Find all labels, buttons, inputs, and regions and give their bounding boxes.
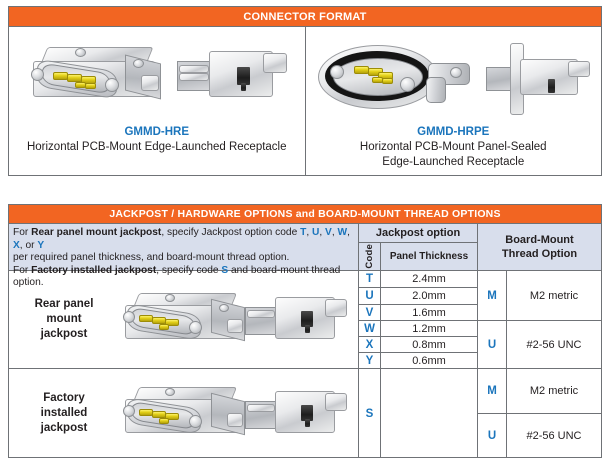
connector-hrpe-description-line1: Horizontal PCB-Mount Panel-Sealed bbox=[306, 140, 602, 155]
thread-code-cell: M bbox=[478, 271, 506, 321]
datasheet-page: CONNECTOR FORMAT bbox=[0, 0, 610, 464]
factory-installed-label: Factory installed jackpost bbox=[9, 391, 119, 436]
jackpost-table-body: Rear panel mount jackpost bbox=[9, 271, 601, 458]
thread-code-cell: U bbox=[478, 321, 506, 369]
rear-panel-label-line3: jackpost bbox=[9, 327, 119, 342]
code-cell: Y bbox=[359, 353, 380, 369]
jackpost-note: For Rear panel mount jackpost, specify J… bbox=[9, 224, 359, 271]
factory-installed-label-line3: jackpost bbox=[9, 421, 119, 436]
factory-installed-side-view bbox=[245, 389, 357, 441]
panel-thickness-column: 2.4mm 2.0mm 1.6mm 1.2mm 0.8mm 0.6mm bbox=[381, 271, 478, 458]
jackpost-label-column: Rear panel mount jackpost bbox=[9, 271, 359, 458]
connector-hre-model: GMMD-HRE bbox=[9, 125, 305, 140]
code-cell: V bbox=[359, 305, 380, 321]
connector-hre-artwork bbox=[9, 27, 305, 125]
code-column-header: Code bbox=[359, 243, 381, 270]
note-line1-pre: For bbox=[13, 227, 31, 238]
board-mount-thread-option-header: Board-Mount Thread Option bbox=[478, 224, 601, 271]
jackpost-options-panel: JACKPOST / HARDWARE OPTIONS and BOARD-MO… bbox=[8, 204, 602, 458]
code-cell: S bbox=[359, 369, 380, 458]
rear-panel-label: Rear panel mount jackpost bbox=[9, 297, 119, 342]
thickness-cell: 0.6mm bbox=[381, 353, 477, 369]
connector-format-panel: CONNECTOR FORMAT bbox=[8, 6, 602, 176]
thickness-cell: 0.8mm bbox=[381, 337, 477, 353]
note-code-u: U bbox=[312, 227, 319, 238]
note-code-w: W bbox=[338, 227, 348, 238]
thread-code-cell: M bbox=[478, 369, 506, 414]
hrpe-iso-view bbox=[316, 37, 476, 117]
thread-name-cell: #2-56 UNC bbox=[507, 414, 601, 458]
thread-name-cell: M2 metric bbox=[507, 271, 601, 321]
connector-format-cell-hre: GMMD-HRE Horizontal PCB-Mount Edge-Launc… bbox=[9, 27, 306, 175]
code-cell: U bbox=[359, 288, 380, 305]
factory-installed-iso-view bbox=[123, 383, 253, 445]
table-row-factory-installed: Factory installed jackpost bbox=[9, 369, 358, 458]
connector-hre-description-line1: Horizontal PCB-Mount Edge-Launched Recep… bbox=[9, 140, 305, 155]
jackpost-option-header-label: Jackpost option bbox=[359, 224, 477, 243]
jackpost-table: For Rear panel mount jackpost, specify J… bbox=[9, 224, 601, 458]
factory-installed-label-line2: installed bbox=[9, 406, 119, 421]
thickness-cell: 2.0mm bbox=[381, 288, 477, 305]
connector-format-body: GMMD-HRE Horizontal PCB-Mount Edge-Launc… bbox=[9, 27, 601, 175]
rear-panel-artwork bbox=[119, 271, 358, 368]
factory-installed-label-line1: Factory bbox=[9, 391, 119, 406]
note-code-t: T bbox=[300, 227, 306, 238]
code-cell: T bbox=[359, 271, 380, 288]
note-line1-bold: Rear panel mount jackpost bbox=[31, 227, 161, 238]
jackpost-note-line1: For Rear panel mount jackpost, specify J… bbox=[13, 227, 354, 252]
jackpost-note-line2: per required panel thickness, and board-… bbox=[13, 252, 354, 265]
thread-code-cell: U bbox=[478, 414, 506, 458]
connector-format-cell-hrpe: GMMD-HRPE Horizontal PCB-Mount Panel-Sea… bbox=[306, 27, 602, 175]
code-cell: X bbox=[359, 337, 380, 353]
rear-panel-iso-view bbox=[123, 289, 253, 353]
connector-hrpe-description-line2: Edge-Launched Receptacle bbox=[306, 155, 602, 170]
hre-iso-view bbox=[29, 41, 169, 113]
board-mount-header-line2: Thread Option bbox=[502, 247, 577, 261]
connector-hre-caption: GMMD-HRE Horizontal PCB-Mount Edge-Launc… bbox=[9, 125, 305, 155]
thickness-cell: 1.2mm bbox=[381, 321, 477, 337]
rear-panel-label-line1: Rear panel bbox=[9, 297, 119, 312]
jackpost-option-header: Jackpost option Code Panel Thickness bbox=[359, 224, 478, 271]
connector-hrpe-model: GMMD-HRPE bbox=[306, 125, 602, 140]
rear-panel-side-view bbox=[245, 295, 357, 347]
table-row-rear-panel: Rear panel mount jackpost bbox=[9, 271, 358, 369]
note-code-v: V bbox=[325, 227, 332, 238]
code-column: T U V W X Y S bbox=[359, 271, 381, 458]
thickness-cell bbox=[381, 369, 477, 458]
thread-name-cell: #2-56 UNC bbox=[507, 321, 601, 369]
note-code-x: X bbox=[13, 240, 20, 251]
thread-name-column: M2 metric #2-56 UNC M2 metric #2-56 UNC bbox=[507, 271, 601, 458]
hrpe-side-view bbox=[486, 39, 602, 119]
connector-hrpe-artwork bbox=[306, 27, 602, 125]
thickness-cell: 2.4mm bbox=[381, 271, 477, 288]
rear-panel-label-line2: mount bbox=[9, 312, 119, 327]
thread-name-cell: M2 metric bbox=[507, 369, 601, 414]
factory-installed-artwork bbox=[119, 369, 358, 458]
thickness-cell: 1.6mm bbox=[381, 305, 477, 321]
code-cell: W bbox=[359, 321, 380, 337]
hre-side-view bbox=[177, 49, 297, 105]
panel-thickness-column-header: Panel Thickness bbox=[381, 243, 477, 270]
code-column-header-label: Code bbox=[364, 244, 375, 269]
board-mount-header-line1: Board-Mount bbox=[502, 233, 577, 247]
connector-hrpe-caption: GMMD-HRPE Horizontal PCB-Mount Panel-Sea… bbox=[306, 125, 602, 169]
note-line1-or: , or bbox=[20, 240, 38, 251]
thread-code-column: M U M U bbox=[478, 271, 507, 458]
note-line1-mid: , specify Jackpost option code bbox=[161, 227, 300, 238]
connector-format-title: CONNECTOR FORMAT bbox=[9, 7, 601, 27]
note-code-y: Y bbox=[37, 240, 44, 251]
jackpost-options-title: JACKPOST / HARDWARE OPTIONS and BOARD-MO… bbox=[9, 205, 601, 224]
